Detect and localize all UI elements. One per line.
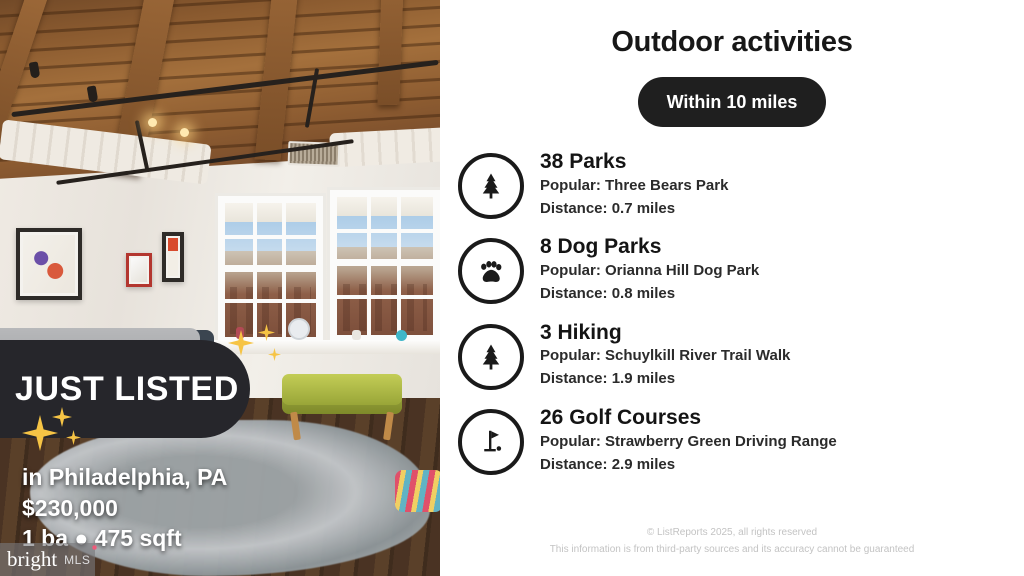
- property-photo-panel: JUST LISTED in Philadelphia, PA $230,000…: [0, 0, 440, 576]
- panel-title: Outdoor activities: [440, 26, 1024, 59]
- activity-title: 38 Parks: [540, 150, 728, 175]
- pendant-bulb: [180, 128, 189, 137]
- activity-texts: 38 Parks Popular: Three Bears Park Dista…: [540, 149, 728, 220]
- activity-title: 26 Golf Courses: [540, 406, 837, 431]
- sparkle-icon: [258, 324, 275, 341]
- activity-item-parks[interactable]: 38 Parks Popular: Three Bears Park Dista…: [440, 149, 1024, 220]
- activity-distance: Distance: 1.9 miles: [540, 368, 790, 391]
- activity-item-dog-parks[interactable]: 8 Dog Parks Popular: Orianna Hill Dog Pa…: [440, 234, 1024, 305]
- disclaimer-text: This information is from third-party sou…: [440, 542, 1024, 559]
- framed-artwork: [162, 232, 184, 282]
- bright-mls-suffix: MLS: [64, 554, 90, 566]
- activity-distance: Distance: 0.8 miles: [540, 283, 759, 306]
- listing-details: in Philadelphia, PA $230,000 1 ba ● 475 …: [22, 462, 227, 554]
- window-shade: [337, 197, 433, 216]
- activity-item-hiking[interactable]: 3 Hiking Popular: Schuylkill River Trail…: [440, 320, 1024, 391]
- activity-texts: 3 Hiking Popular: Schuylkill River Trail…: [540, 320, 790, 391]
- sill-decor: [396, 330, 407, 341]
- listing-location: in Philadelphia, PA: [22, 462, 227, 493]
- pendant-bulb: [148, 118, 157, 127]
- listing-price: $230,000: [22, 493, 227, 524]
- window: [330, 190, 440, 342]
- ceiling-duct: [329, 127, 440, 168]
- sparkle-icon: [66, 430, 81, 445]
- sparkle-icon: [52, 407, 72, 427]
- footer-legal: © ListReports 2025, all rights reserved …: [440, 525, 1024, 558]
- sill-decor: [352, 330, 361, 340]
- framed-artwork: [126, 253, 152, 287]
- framed-artwork: [16, 228, 82, 300]
- activity-distance: Distance: 0.7 miles: [540, 198, 728, 221]
- activity-popular: Popular: Strawberry Green Driving Range: [540, 431, 837, 454]
- activity-title: 3 Hiking: [540, 321, 790, 346]
- copyright-text: © ListReports 2025, all rights reserved: [440, 525, 1024, 542]
- outdoor-activities-panel: Outdoor activities Within 10 miles 38 Pa…: [440, 0, 1024, 576]
- activity-popular: Popular: Schuylkill River Trail Walk: [540, 345, 790, 368]
- storage-bench: [282, 374, 402, 414]
- trademark-icon: [91, 544, 98, 551]
- striped-pillow: [395, 470, 440, 512]
- just-listed-label: JUST LISTED: [15, 372, 239, 406]
- activity-texts: 26 Golf Courses Popular: Strawberry Gree…: [540, 405, 837, 476]
- activity-popular: Popular: Orianna Hill Dog Park: [540, 260, 759, 283]
- tree-icon: [458, 153, 524, 219]
- tree-icon: [458, 324, 524, 390]
- activity-texts: 8 Dog Parks Popular: Orianna Hill Dog Pa…: [540, 234, 759, 305]
- golf-flag-icon: [458, 409, 524, 475]
- window-shade: [225, 203, 316, 222]
- listing-flyer: JUST LISTED in Philadelphia, PA $230,000…: [0, 0, 1024, 576]
- activity-popular: Popular: Three Bears Park: [540, 175, 728, 198]
- activity-item-golf-courses[interactable]: 26 Golf Courses Popular: Strawberry Gree…: [440, 405, 1024, 476]
- activity-title: 8 Dog Parks: [540, 235, 759, 260]
- sparkle-icon: [228, 330, 254, 356]
- radius-badge: Within 10 miles: [638, 77, 826, 127]
- sill-fan: [288, 318, 310, 340]
- sparkle-icon: [268, 348, 281, 361]
- activity-list: 38 Parks Popular: Three Bears Park Dista…: [440, 149, 1024, 476]
- bright-mls-wordmark: bright: [7, 549, 57, 570]
- paw-icon: [458, 238, 524, 304]
- activity-distance: Distance: 2.9 miles: [540, 454, 837, 477]
- bright-mls-logo: bright MLS: [0, 543, 95, 576]
